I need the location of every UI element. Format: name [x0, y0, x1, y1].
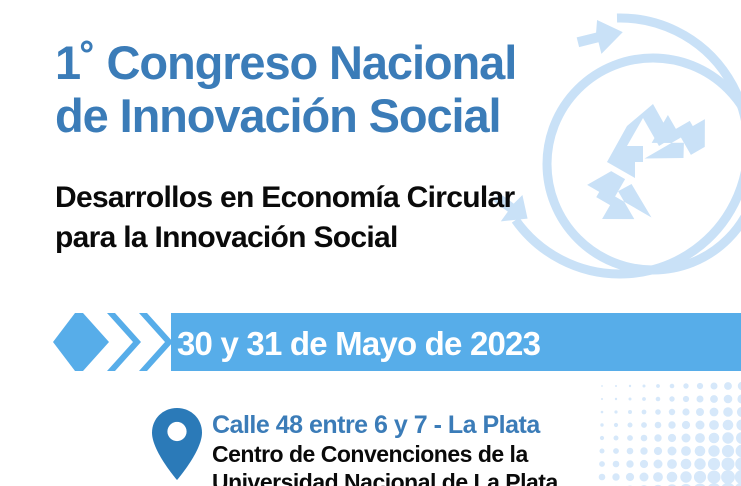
- halftone-dot-pattern: [596, 378, 741, 486]
- venue-info: Calle 48 entre 6 y 7 - La Plata Centro d…: [150, 406, 558, 486]
- date-banner: 30 y 31 de Mayo de 2023: [53, 313, 741, 371]
- page-title: 1˚ Congreso Nacional de Innovación Socia…: [55, 36, 615, 142]
- venue-street: Calle 48 entre 6 y 7 - La Plata: [212, 411, 558, 440]
- venue-detail-line-2: Universidad Nacional de La Plata: [212, 468, 558, 486]
- page-subtitle: Desarrollos en Economía Circular para la…: [55, 178, 655, 258]
- venue-detail-line-1: Centro de Convenciones de la: [212, 440, 558, 468]
- subtitle-line-2: para la Innovación Social: [55, 218, 655, 258]
- venue-text-block: Calle 48 entre 6 y 7 - La Plata Centro d…: [212, 406, 558, 486]
- chevron-right-icon: [53, 313, 171, 371]
- event-date: 30 y 31 de Mayo de 2023: [177, 327, 540, 360]
- title-line-2: de Innovación Social: [55, 89, 615, 142]
- map-pin-icon: [150, 406, 204, 482]
- title-line-1: 1˚ Congreso Nacional: [55, 36, 615, 89]
- subtitle-line-1: Desarrollos en Economía Circular: [55, 178, 655, 218]
- event-poster: 1˚ Congreso Nacional de Innovación Socia…: [0, 0, 741, 486]
